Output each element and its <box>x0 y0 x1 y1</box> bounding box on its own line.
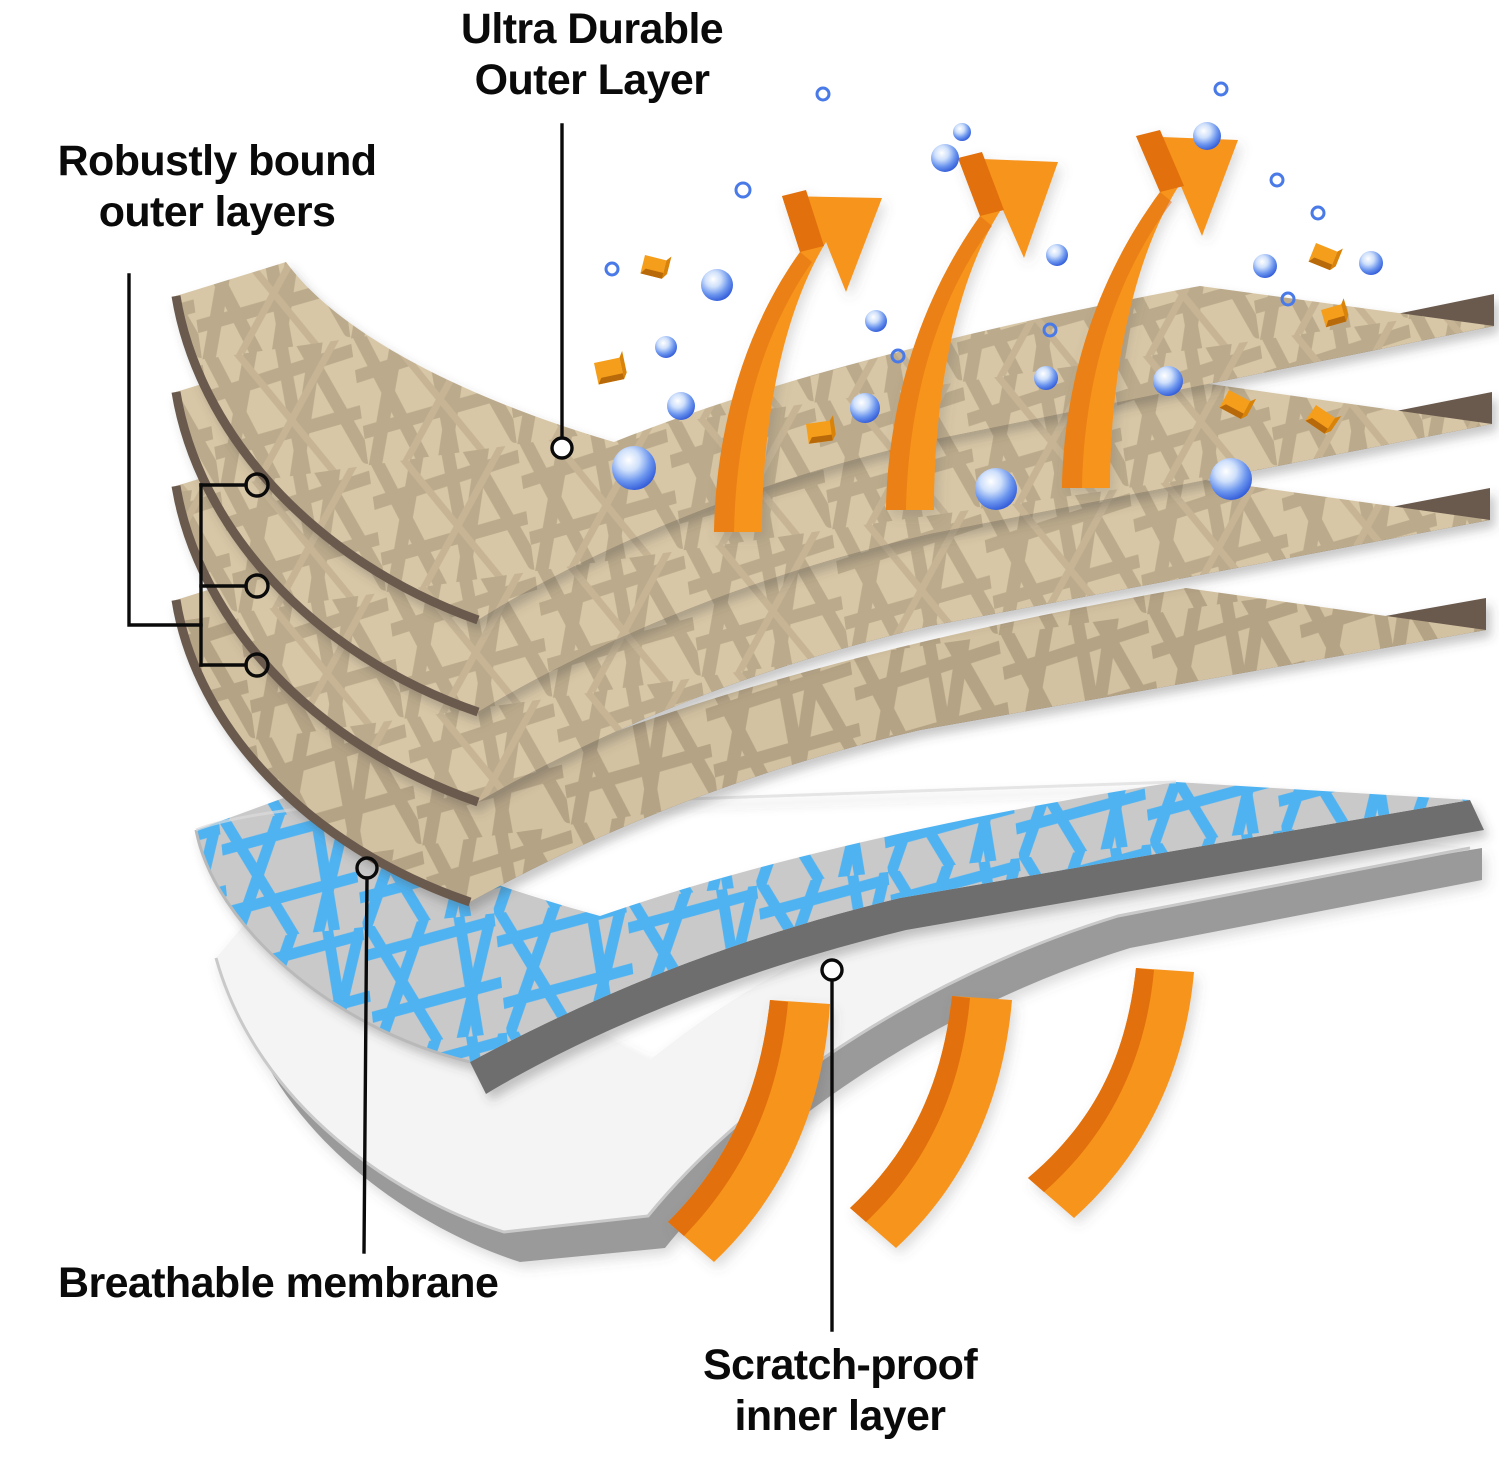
callout-label-breathable-membrane: Breathable membrane <box>58 1258 698 1309</box>
diagram-canvas: Ultra Durable Outer Layer Robustly bound… <box>0 0 1499 1463</box>
marker-breathable-membrane <box>357 858 377 878</box>
callout-label-robustly-bound-outer-layers: Robustly bound outer layers <box>2 136 432 237</box>
callout-label-ultra-durable-outer-layer: Ultra Durable Outer Layer <box>392 4 792 105</box>
marker-scratch-proof-inner-layer <box>822 960 842 980</box>
marker-bound-layer-1 <box>246 474 268 496</box>
callout-label-scratch-proof-inner-layer: Scratch-proof inner layer <box>620 1340 1060 1441</box>
leader-line-robustly-bound-outer-layers <box>129 275 246 665</box>
marker-bound-layer-2 <box>246 575 268 597</box>
marker-bound-layer-3 <box>246 654 268 676</box>
leader-line-breathable-membrane <box>364 878 367 1252</box>
marker-ultra-durable-outer-layer <box>552 438 572 458</box>
